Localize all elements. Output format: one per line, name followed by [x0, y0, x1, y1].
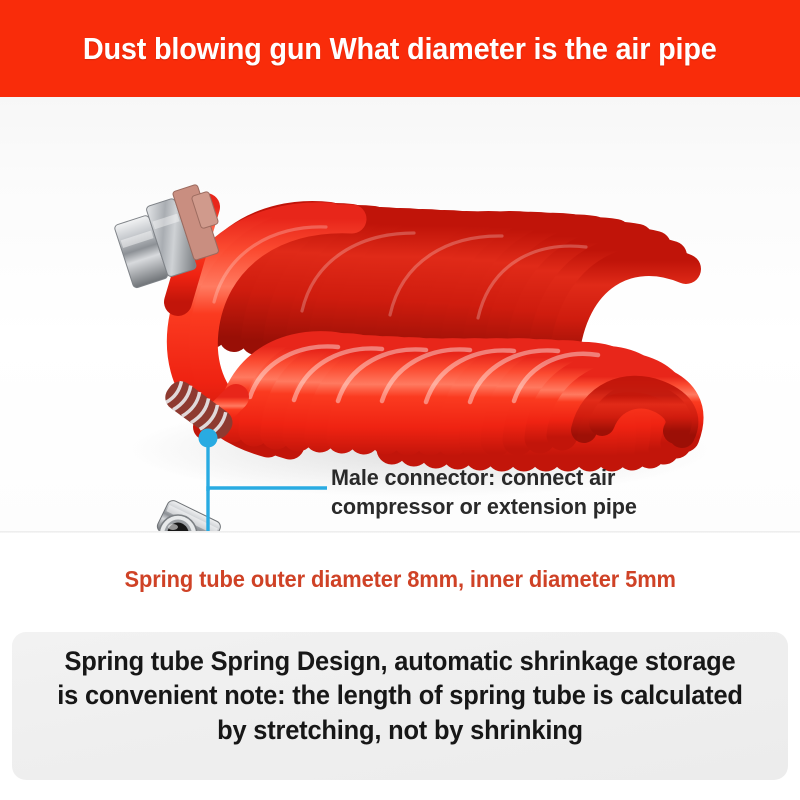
note-text: Spring tube Spring Design, automatic shr…: [52, 644, 747, 747]
spec-diameter-text: Spring tube outer diameter 8mm, inner di…: [124, 566, 675, 593]
header-banner: Dust blowing gun What diameter is the ai…: [0, 0, 800, 97]
page-title: Dust blowing gun What diameter is the ai…: [83, 30, 717, 68]
note-box: Spring tube Spring Design, automatic shr…: [12, 632, 788, 780]
product-info-graphic: Dust blowing gun What diameter is the ai…: [0, 0, 800, 800]
specs-strip: Spring tube outer diameter 8mm, inner di…: [0, 533, 800, 625]
callout-label: Male connector: connect air compressor o…: [331, 464, 696, 522]
